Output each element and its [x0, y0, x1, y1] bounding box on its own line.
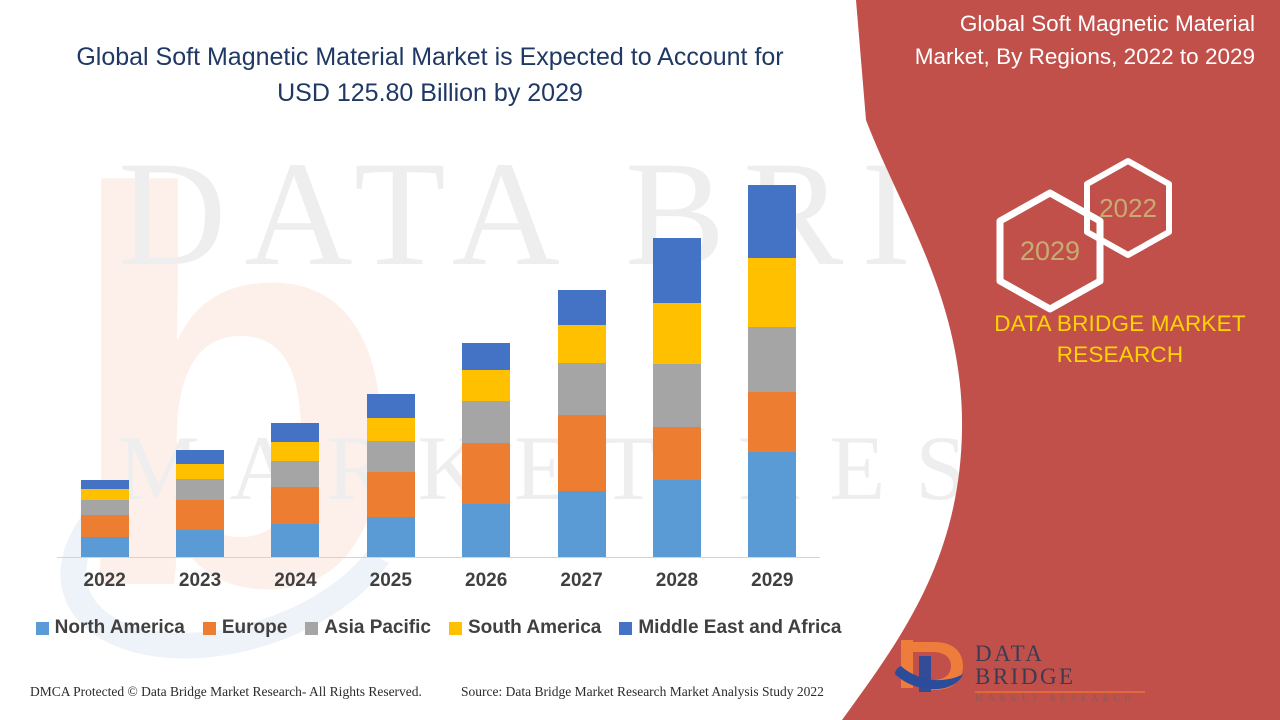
logo-title: DATA BRIDGE [975, 642, 1145, 688]
hex-badge-2022-label: 2022 [1099, 193, 1157, 224]
logo-divider [975, 691, 1145, 693]
data-bridge-logo: DATA BRIDGE MARKET RESEARCH [893, 634, 1103, 698]
right-panel-brand-line-2: RESEARCH [960, 339, 1280, 370]
logo-b-mark-icon [893, 634, 965, 696]
logo-wordmark: DATA BRIDGE MARKET RESEARCH [975, 642, 1145, 704]
right-red-panel: Global Soft Magnetic Material Market, By… [0, 0, 1280, 720]
right-panel-brand: DATA BRIDGE MARKET RESEARCH [960, 308, 1280, 370]
hex-badge-2029-label: 2029 [1020, 236, 1080, 267]
right-panel-title: Global Soft Magnetic Material Market, By… [905, 8, 1255, 74]
infographic-canvas: b DATA BRIDGE MARKET RESEARCH Global Sof… [0, 0, 1280, 720]
logo-subtitle: MARKET RESEARCH [975, 695, 1145, 705]
hex-badge-2029: 2029 [992, 188, 1108, 314]
right-panel-brand-line-1: DATA BRIDGE MARKET [960, 308, 1280, 339]
